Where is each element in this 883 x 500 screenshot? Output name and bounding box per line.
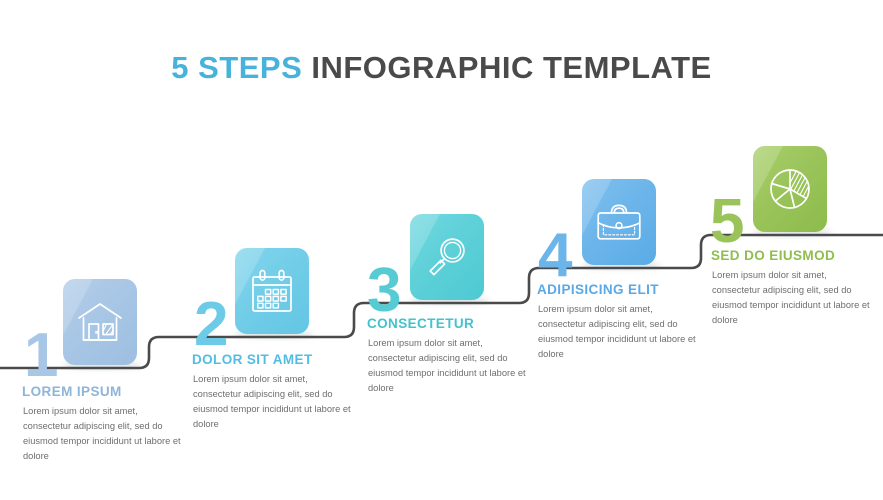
- calendar-icon: [250, 268, 294, 314]
- step-card-1[interactable]: [63, 279, 137, 365]
- step-number-2: 2: [194, 294, 227, 356]
- step-title-5: SED DO EIUSMOD: [711, 248, 835, 263]
- infographic-stage: 1 LOREM IPSUM Lorem ipsum dolor sit amet…: [0, 0, 883, 500]
- step-title-3: CONSECTETUR: [367, 316, 474, 331]
- pie-chart-icon: [767, 166, 813, 212]
- magnifier-icon: [424, 234, 470, 280]
- step-title-1: LOREM IPSUM: [22, 384, 122, 399]
- step-card-2[interactable]: [235, 248, 309, 334]
- step-description-3: Lorem ipsum dolor sit amet, consectetur …: [368, 336, 528, 396]
- step-title-4: ADIPISICING ELIT: [537, 282, 659, 297]
- step-title-2: DOLOR SIT AMET: [192, 352, 313, 367]
- step-card-4[interactable]: [582, 179, 656, 265]
- house-icon: [77, 300, 123, 344]
- step-description-1: Lorem ipsum dolor sit amet, consectetur …: [23, 404, 183, 464]
- briefcase-icon: [595, 201, 643, 243]
- step-number-5: 5: [710, 191, 743, 253]
- step-card-5[interactable]: [753, 146, 827, 232]
- step-number-4: 4: [538, 225, 571, 287]
- step-description-2: Lorem ipsum dolor sit amet, consectetur …: [193, 372, 353, 432]
- step-description-4: Lorem ipsum dolor sit amet, consectetur …: [538, 302, 698, 362]
- step-card-3[interactable]: [410, 214, 484, 300]
- step-number-1: 1: [24, 325, 57, 387]
- step-description-5: Lorem ipsum dolor sit amet, consectetur …: [712, 268, 872, 328]
- step-number-3: 3: [367, 260, 400, 322]
